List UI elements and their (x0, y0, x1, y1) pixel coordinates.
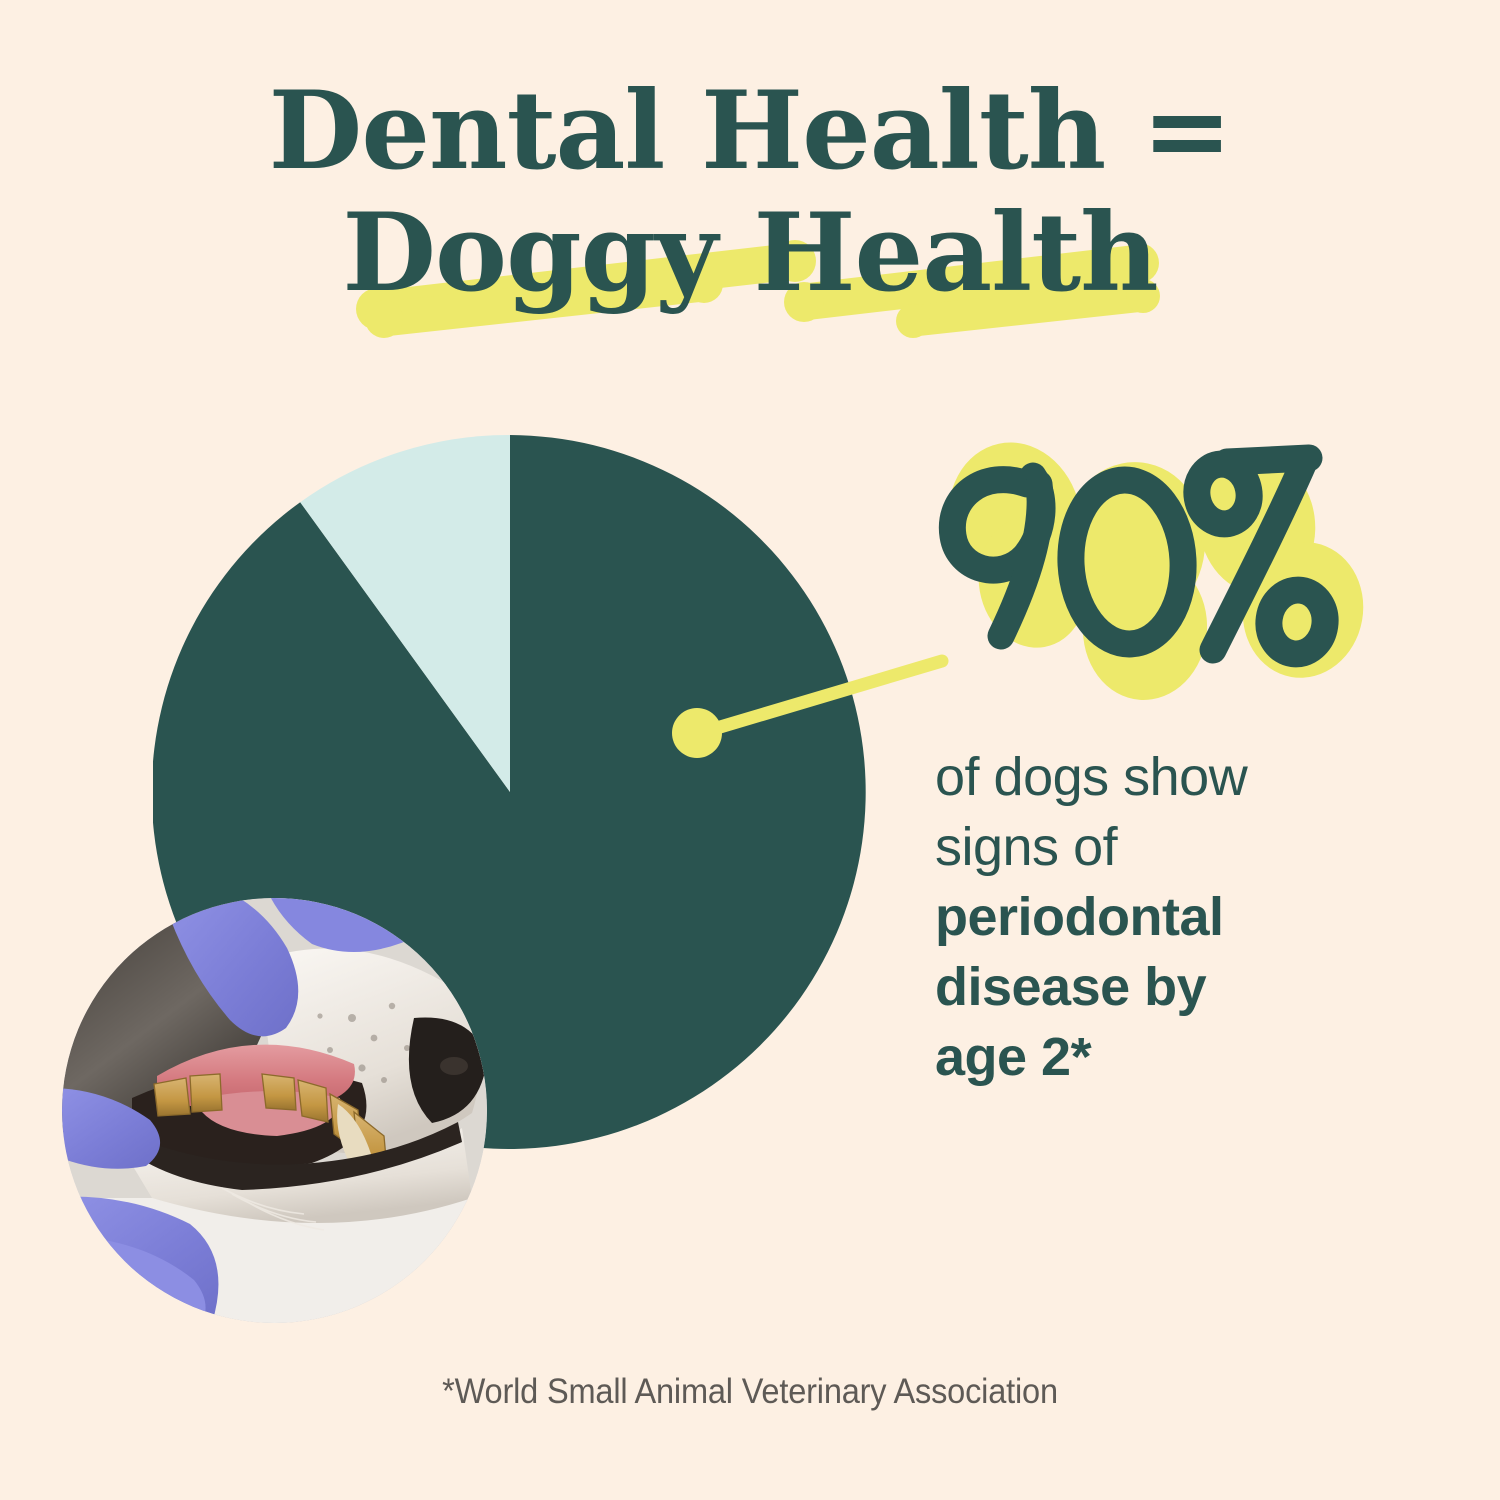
headline: Dental Health = Doggy Health (0, 72, 1500, 312)
headline-line-2: Doggy Health (0, 194, 1500, 312)
headline-line-1: Dental Health = (0, 72, 1500, 190)
pointer-dot (672, 708, 722, 758)
stat-line-5: age 2* (935, 1022, 1435, 1092)
stat-description: of dogs show signs of periodontal diseas… (935, 742, 1435, 1092)
stat-line-4: disease by (935, 952, 1435, 1022)
stat-line-1: of dogs show (935, 742, 1435, 812)
dog-teeth-photo (62, 898, 487, 1323)
infographic-canvas: Dental Health = Doggy Health (0, 0, 1500, 1500)
title-highlight-brushstroke (0, 196, 1500, 356)
stat-number (905, 432, 1385, 732)
source-footnote: *World Small Animal Veterinary Associati… (53, 1372, 1448, 1412)
stat-line-2: signs of (935, 812, 1435, 882)
stat-line-3: periodontal (935, 882, 1435, 952)
